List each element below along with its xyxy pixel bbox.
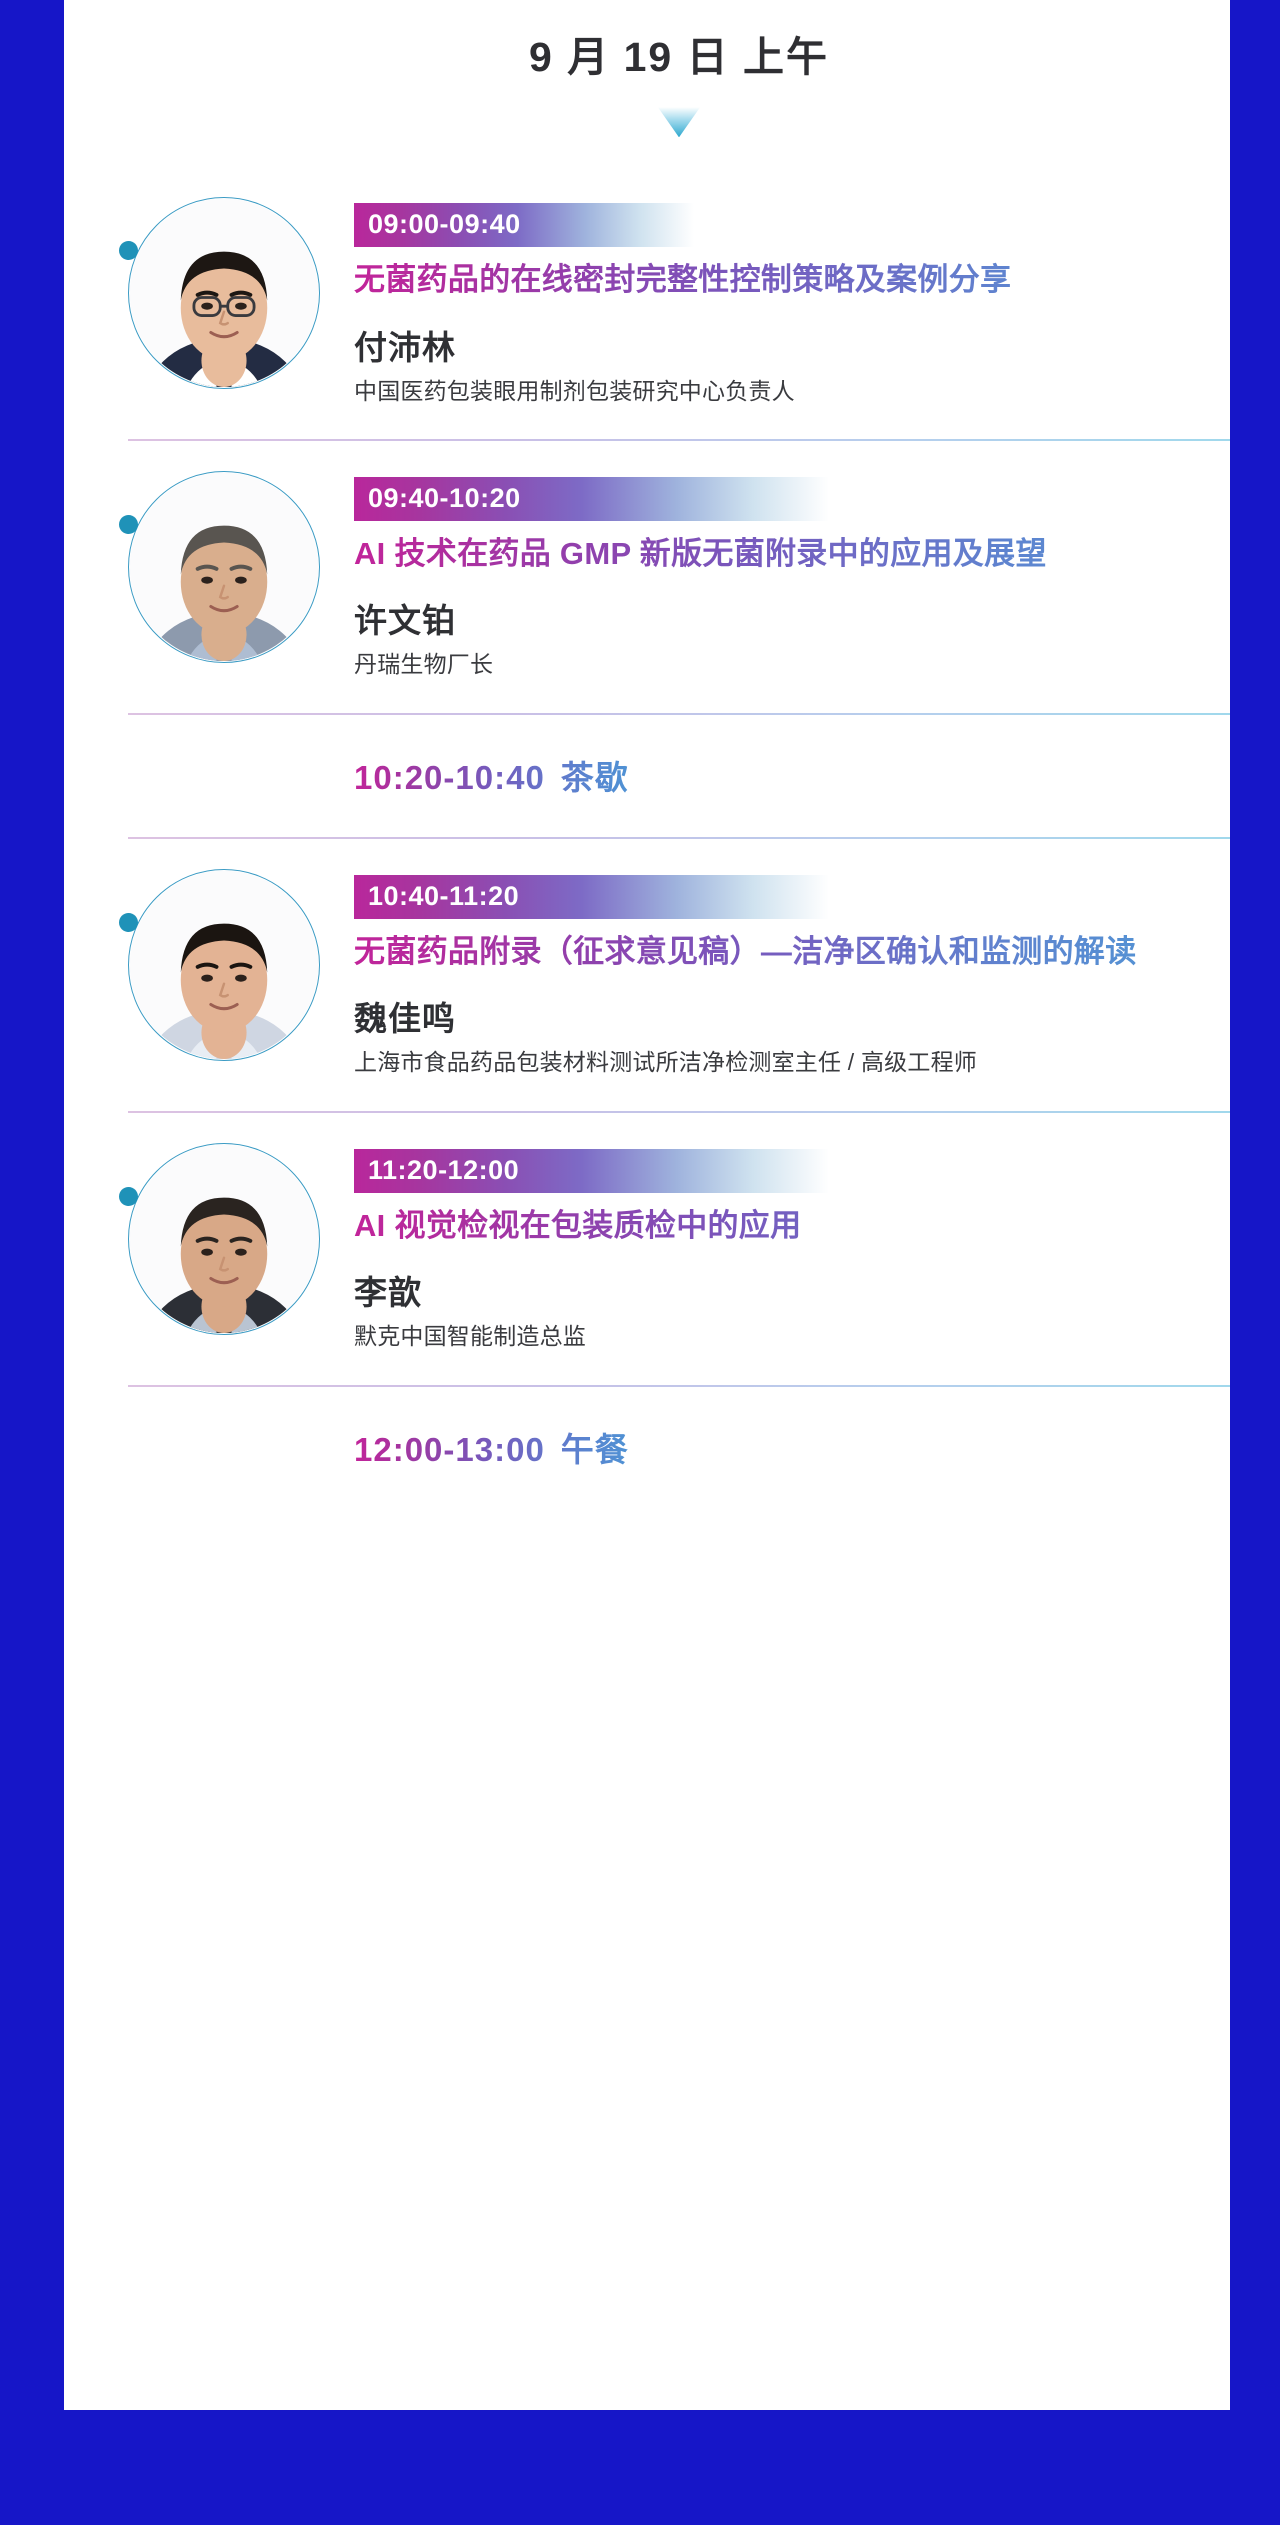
- session-row[interactable]: 09:40-10:20AI 技术在药品 GMP 新版无菌附录中的应用及展望许文铂…: [64, 439, 1280, 713]
- break-label: 12:00-13:00午餐: [354, 1423, 629, 1471]
- avatar: [128, 869, 320, 1061]
- avatar: [128, 1143, 320, 1335]
- speaker-organization: 中国医药包装眼用制剂包装研究中心负责人: [354, 375, 1230, 408]
- status-badge: 09:40-10:20: [354, 477, 829, 521]
- break-name: 茶歇: [561, 759, 629, 796]
- speaker-organization: 丹瑞生物厂长: [354, 648, 1230, 681]
- chevron-down-icon: [658, 107, 700, 137]
- break-label: 10:20-10:40茶歇: [354, 751, 629, 799]
- schedule-list: 09:00-09:40无菌药品的在线密封完整性控制策略及案例分享付沛林中国医药包…: [64, 165, 1280, 1509]
- session-row[interactable]: 09:00-09:40无菌药品的在线密封完整性控制策略及案例分享付沛林中国医药包…: [64, 165, 1280, 439]
- break-row: 12:00-13:00午餐: [64, 1385, 1280, 1509]
- status-badge: 11:20-12:00: [354, 1149, 829, 1193]
- page-title: 9 月 19 日 上午: [64, 30, 1280, 85]
- speaker-name: 李歆: [354, 1266, 1230, 1314]
- speaker-name: 付沛林: [354, 321, 1230, 369]
- session-row[interactable]: 11:20-12:00AI 视觉检视在包装质检中的应用李歆默克中国智能制造总监: [64, 1111, 1280, 1385]
- session-title[interactable]: AI 技术在药品 GMP 新版无菌附录中的应用及展望: [354, 533, 1230, 574]
- session-title[interactable]: 无菌药品附录（征求意见稿）—洁净区确认和监测的解读: [354, 931, 1230, 972]
- break-name: 午餐: [561, 1431, 629, 1468]
- speaker-name: 魏佳鸣: [354, 992, 1230, 1040]
- avatar: [128, 197, 320, 389]
- session-title[interactable]: 无菌药品的在线密封完整性控制策略及案例分享: [354, 259, 1230, 300]
- session-row[interactable]: 10:40-11:20无菌药品附录（征求意见稿）—洁净区确认和监测的解读魏佳鸣上…: [64, 837, 1280, 1111]
- right-edge-band: [1230, 0, 1280, 2525]
- agenda-poster: 9 月 19 日 上午 09:00-09:40无菌药品的在线密封完整性控制策略及…: [0, 0, 1280, 2525]
- avatar-ring: [128, 471, 320, 663]
- avatar-ring: [128, 1143, 320, 1335]
- avatar-ring: [128, 869, 320, 1061]
- timeline-dot-icon: [119, 913, 138, 932]
- speaker-name: 许文铂: [354, 594, 1230, 642]
- avatar: [128, 471, 320, 663]
- session-title[interactable]: AI 视觉检视在包装质检中的应用: [354, 1205, 1230, 1246]
- status-badge: 09:00-09:40: [354, 203, 694, 247]
- session-content: 10:40-11:20无菌药品附录（征求意见稿）—洁净区确认和监测的解读魏佳鸣上…: [354, 869, 1230, 1079]
- speaker-organization: 默克中国智能制造总监: [354, 1320, 1230, 1353]
- agenda-card: 9 月 19 日 上午 09:00-09:40无菌药品的在线密封完整性控制策略及…: [64, 0, 1280, 2410]
- session-content: 09:00-09:40无菌药品的在线密封完整性控制策略及案例分享付沛林中国医药包…: [354, 197, 1230, 407]
- session-content: 09:40-10:20AI 技术在药品 GMP 新版无菌附录中的应用及展望许文铂…: [354, 471, 1230, 681]
- session-content: 11:20-12:00AI 视觉检视在包装质检中的应用李歆默克中国智能制造总监: [354, 1143, 1230, 1353]
- timeline-dot-icon: [119, 1187, 138, 1206]
- poster-header: 9 月 19 日 上午: [64, 0, 1280, 137]
- bottom-edge-band: [0, 2410, 1280, 2525]
- avatar-ring: [128, 197, 320, 389]
- break-row: 10:20-10:40茶歇: [64, 713, 1280, 837]
- speaker-organization: 上海市食品药品包装材料测试所洁净检测室主任 / 高级工程师: [354, 1046, 1230, 1079]
- status-badge: 10:40-11:20: [354, 875, 829, 919]
- scroll-hint: [64, 107, 1280, 137]
